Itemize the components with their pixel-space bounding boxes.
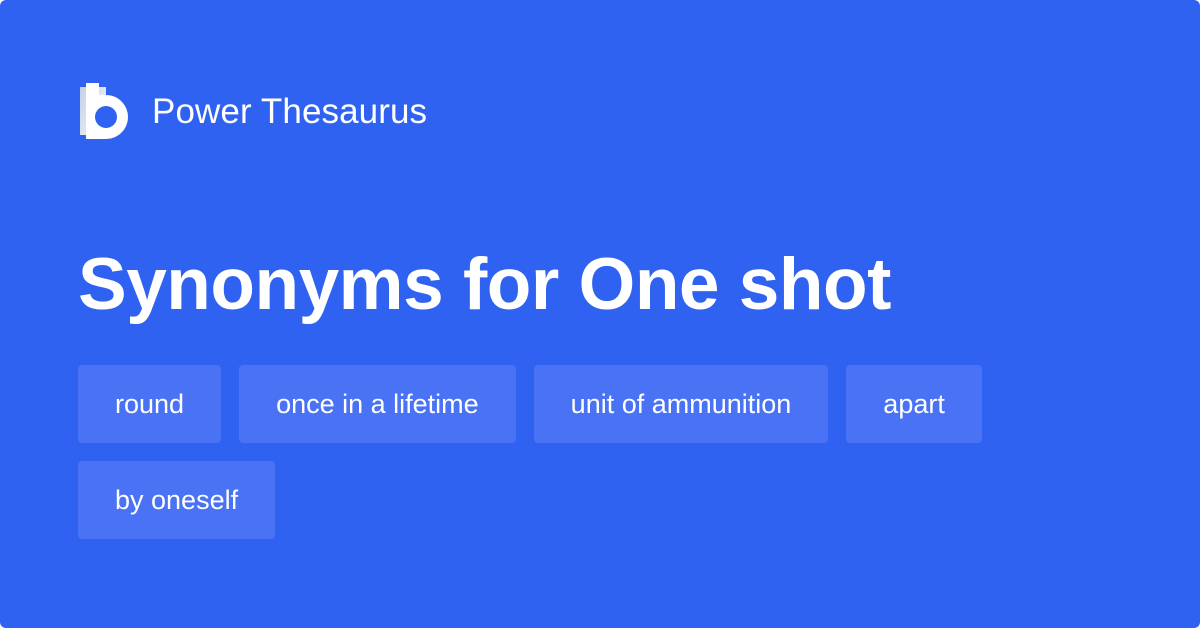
social-card: Power Thesaurus Synonyms for One shot ro… (0, 0, 1200, 628)
synonym-chip-list: round once in a lifetime unit of ammunit… (78, 365, 1126, 539)
brand-name: Power Thesaurus (152, 94, 427, 129)
synonym-chip[interactable]: apart (846, 365, 982, 443)
brand-header[interactable]: Power Thesaurus (80, 82, 427, 140)
synonym-chip[interactable]: round (78, 365, 221, 443)
synonym-chip[interactable]: once in a lifetime (239, 365, 516, 443)
synonym-chip[interactable]: by oneself (78, 461, 275, 539)
synonym-chip[interactable]: unit of ammunition (534, 365, 829, 443)
page-title: Synonyms for One shot (78, 245, 1128, 325)
power-thesaurus-b-logo-icon (80, 83, 130, 139)
